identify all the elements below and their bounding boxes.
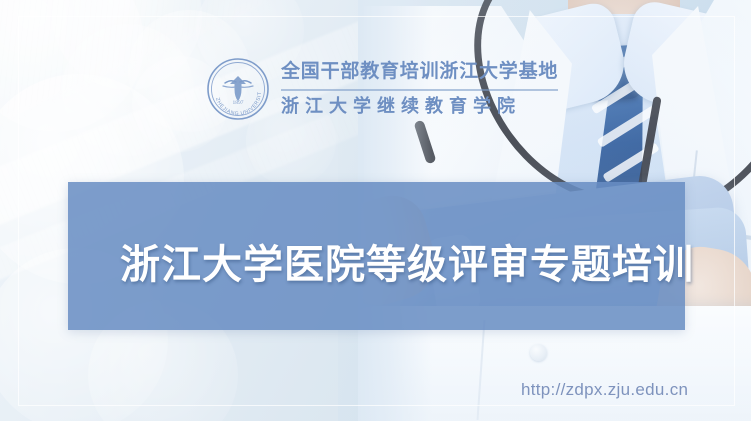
website-url[interactable]: http://zdpx.zju.edu.cn bbox=[521, 380, 688, 400]
title-banner: 浙江大学医院等级评审专题培训 bbox=[68, 182, 685, 330]
zhejiang-university-seal-icon: 1897 ZHEJIANG UNIVERSITY bbox=[205, 56, 271, 122]
svg-text:1897: 1897 bbox=[233, 100, 244, 106]
header-lockup: 1897 ZHEJIANG UNIVERSITY 全国干部教育培训浙江大学基地 … bbox=[205, 56, 558, 122]
header-line-1: 全国干部教育培训浙江大学基地 bbox=[281, 60, 558, 85]
header-line-2: 浙江大学继续教育学院 bbox=[281, 95, 558, 118]
page-title: 浙江大学医院等级评审专题培训 bbox=[120, 232, 694, 290]
presentation-slide: 1897 ZHEJIANG UNIVERSITY 全国干部教育培训浙江大学基地 … bbox=[0, 0, 751, 421]
header-text-block: 全国干部教育培训浙江大学基地 浙江大学继续教育学院 bbox=[281, 60, 558, 119]
header-divider bbox=[281, 89, 558, 91]
